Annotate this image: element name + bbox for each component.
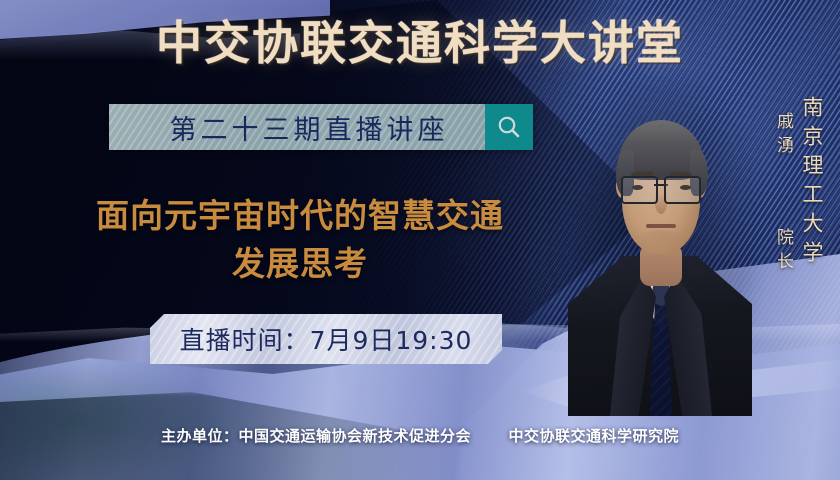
episode-banner-body: 第二十三期直播讲座 — [109, 104, 485, 150]
speaker-name: 戚湧 — [773, 112, 793, 160]
speaker-organization: 南京理工大学 — [801, 96, 822, 270]
speaker-name-title-column: 戚湧 院长 — [774, 112, 791, 276]
portrait-glasses — [621, 176, 701, 202]
speaker-portrait — [566, 88, 752, 408]
glasses-lens-left — [621, 176, 658, 204]
page-title: 中交协联交通科学大讲堂 — [0, 18, 840, 70]
lecture-topic: 面向元宇宙时代的智慧交通 发展思考 — [44, 192, 556, 287]
broadcast-time-plate: 直播时间：7月9日19:30 — [150, 314, 502, 364]
portrait-mouth — [646, 224, 676, 228]
glasses-lens-right — [664, 176, 701, 204]
lecture-topic-line2: 发展思考 — [44, 240, 556, 288]
search-icon — [496, 114, 522, 140]
episode-label: 第二十三期直播讲座 — [146, 108, 449, 147]
webinar-poster: 中交协联交通科学大讲堂 第二十三期直播讲座 面向元宇宙时代的智慧交通 发展思考 … — [0, 0, 840, 480]
episode-banner: 第二十三期直播讲座 — [109, 104, 533, 150]
footer-host-label: 主办单位：中国交通运输协会新技术促进分会 — [161, 427, 471, 445]
speaker-credits: 戚湧 院长 南京理工大学 — [774, 96, 822, 276]
speaker-title: 院长 — [773, 228, 793, 276]
footer-institute: 中交协联交通科学研究院 — [508, 427, 679, 445]
footer-hosts: 主办单位：中国交通运输协会新技术促进分会 中交协联交通科学研究院 — [0, 425, 840, 446]
search-button[interactable] — [485, 104, 533, 150]
broadcast-time-text: 直播时间：7月9日19:30 — [180, 321, 473, 357]
portrait-chin — [634, 230, 688, 254]
lecture-topic-line1: 面向元宇宙时代的智慧交通 — [44, 192, 556, 240]
